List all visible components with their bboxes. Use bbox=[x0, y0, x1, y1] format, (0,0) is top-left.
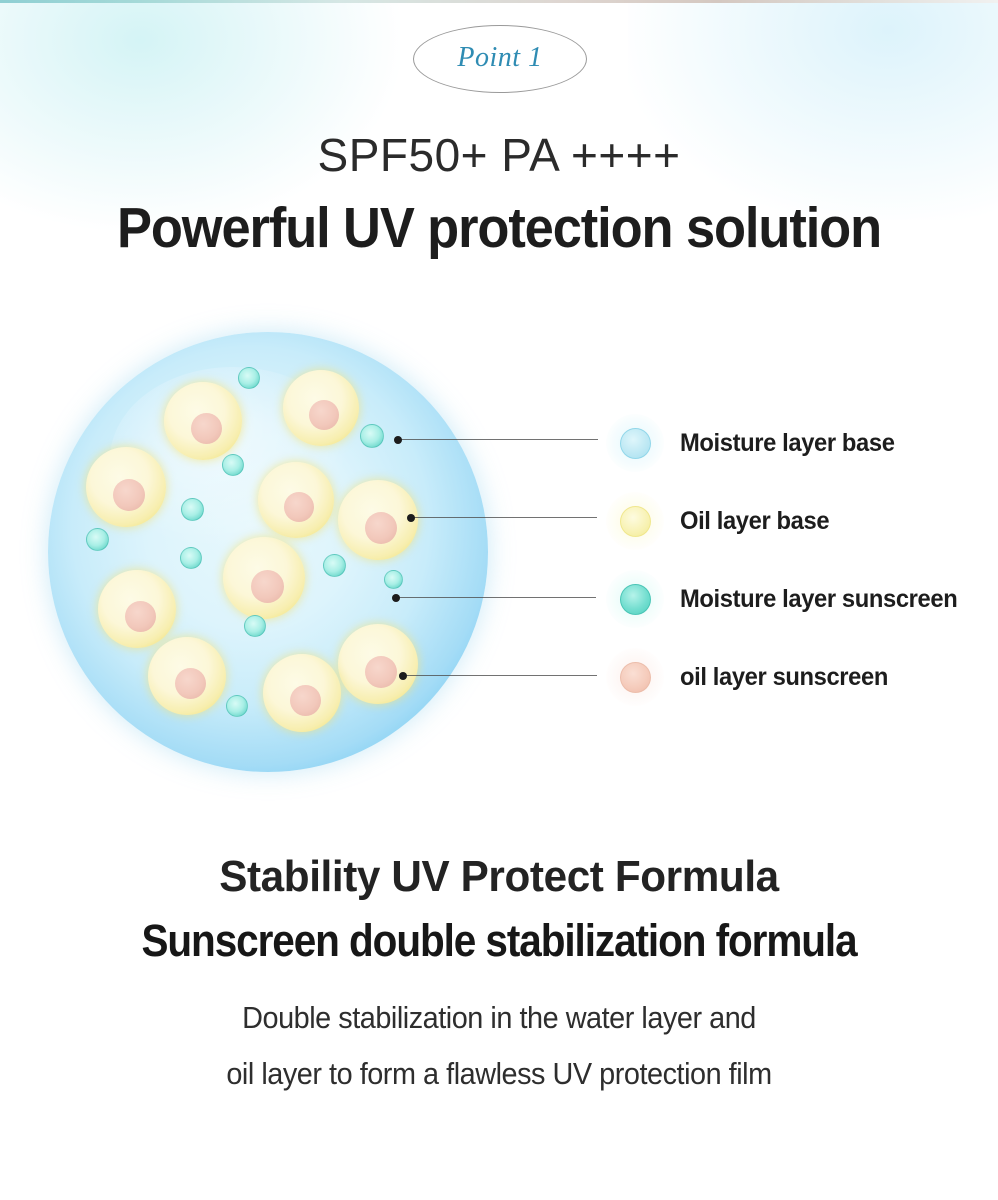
oil-layer-sunscreen-swatch-icon bbox=[606, 648, 664, 706]
oil-droplet-core bbox=[365, 512, 397, 544]
legend-label: Moisture layer base bbox=[680, 429, 895, 458]
oil-droplet bbox=[86, 447, 166, 527]
leader-anchor-dot bbox=[394, 436, 402, 444]
body-text-line-2: oil layer to form a flawless UV protecti… bbox=[35, 1056, 963, 1092]
legend-item-moisture-layer-base[interactable]: Moisture layer base bbox=[606, 412, 906, 474]
leader-anchor-dot bbox=[392, 594, 400, 602]
leader-anchor-dot bbox=[399, 672, 407, 680]
subheading-stability: Stability UV Protect Formula bbox=[20, 852, 978, 902]
legend-item-oil-layer-sunscreen[interactable]: oil layer sunscreen bbox=[606, 646, 899, 708]
legend-label: oil layer sunscreen bbox=[680, 663, 888, 692]
point-badge: Point 1 bbox=[413, 25, 587, 93]
moisture-layer-sunscreen-swatch-icon bbox=[606, 570, 664, 628]
oil-droplet-core bbox=[175, 668, 206, 699]
leader-anchor-dot bbox=[407, 514, 415, 522]
water-dot bbox=[226, 695, 248, 717]
oil-droplet-core bbox=[113, 479, 145, 511]
water-dot bbox=[384, 570, 403, 589]
product-infographic-page: Point 1 SPF50+ PA ++++ Powerful UV prote… bbox=[0, 0, 998, 1200]
oil-droplet bbox=[263, 654, 341, 732]
leader-line bbox=[398, 439, 598, 440]
legend-label: Oil layer base bbox=[680, 507, 829, 536]
leader-line bbox=[411, 517, 597, 518]
oil-droplet bbox=[148, 637, 226, 715]
oil-layer-base-swatch-icon bbox=[606, 492, 664, 550]
oil-droplet-core bbox=[251, 570, 284, 603]
water-dot bbox=[180, 547, 202, 569]
water-dot bbox=[244, 615, 266, 637]
subheading-double-stabilization: Sunscreen double stabilization formula bbox=[50, 915, 948, 967]
leader-line bbox=[396, 597, 596, 598]
spf-rating-heading: SPF50+ PA ++++ bbox=[0, 128, 998, 182]
legend-item-moisture-layer-sunscreen[interactable]: Moisture layer sunscreen bbox=[606, 568, 972, 630]
oil-droplet-core bbox=[125, 601, 156, 632]
legend-label: Moisture layer sunscreen bbox=[680, 585, 957, 614]
leader-line bbox=[403, 675, 597, 676]
oil-droplet bbox=[338, 624, 418, 704]
oil-droplet-core bbox=[290, 685, 321, 716]
oil-droplet-core bbox=[191, 413, 222, 444]
legend-item-oil-layer-base[interactable]: Oil layer base bbox=[606, 490, 837, 552]
point-badge-label: Point 1 bbox=[457, 44, 542, 75]
oil-droplet bbox=[98, 570, 176, 648]
oil-droplet bbox=[164, 382, 242, 460]
emulsion-illustration bbox=[48, 332, 488, 772]
oil-droplet-core bbox=[309, 400, 339, 430]
water-dot bbox=[181, 498, 204, 521]
background-tint-right bbox=[628, 0, 998, 220]
oil-droplet-core bbox=[365, 656, 397, 688]
water-dot bbox=[360, 424, 384, 448]
water-dot bbox=[86, 528, 109, 551]
water-dot bbox=[323, 554, 346, 577]
hero-heading: Powerful UV protection solution bbox=[40, 195, 958, 261]
water-dot bbox=[222, 454, 244, 476]
oil-droplet bbox=[223, 537, 305, 619]
oil-droplet bbox=[338, 480, 418, 560]
water-dot bbox=[238, 367, 260, 389]
top-divider-line bbox=[0, 0, 998, 3]
body-text-line-1: Double stabilization in the water layer … bbox=[35, 1000, 963, 1036]
oil-droplet-core bbox=[284, 492, 314, 522]
oil-droplet bbox=[258, 462, 334, 538]
oil-droplet bbox=[283, 370, 359, 446]
moisture-layer-base-swatch-icon bbox=[606, 414, 664, 472]
